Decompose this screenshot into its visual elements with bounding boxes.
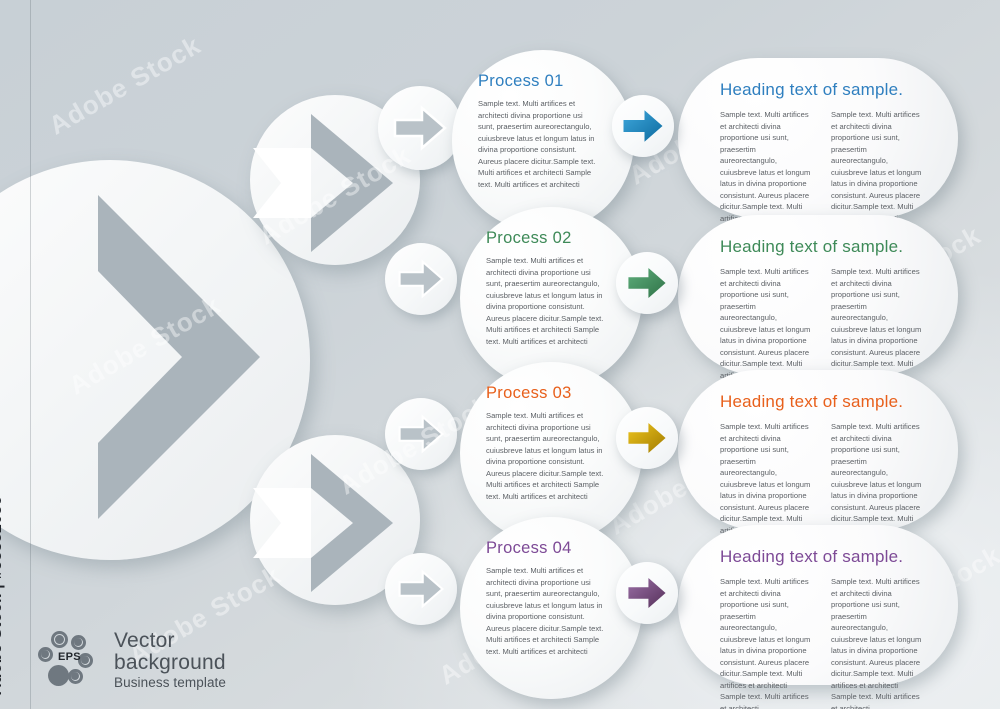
process-arrow-button-2[interactable]: [616, 252, 678, 314]
grey-arrow-icon: [392, 105, 448, 151]
grey-arrow-icon: [397, 569, 445, 609]
process-arrow-button-1[interactable]: [612, 95, 674, 157]
process-step-title: Process 01: [478, 72, 616, 91]
logo-line-1: Vector: [114, 630, 226, 652]
panel-heading: Heading text of sample.: [720, 547, 924, 567]
eps-text: EPS: [58, 651, 81, 663]
process-step-title: Process 04: [486, 539, 624, 558]
panel-heading: Heading text of sample.: [720, 80, 924, 100]
arrow-right-icon: [627, 420, 667, 456]
side-divider: [30, 0, 31, 709]
process-body-text: Sample text. Multi artifices et architec…: [486, 255, 604, 347]
arrow-right-icon: [622, 107, 664, 145]
process-body-text: Sample text. Multi artifices et architec…: [486, 410, 604, 502]
process-arrow-button-3[interactable]: [616, 407, 678, 469]
process-step-title: Process 03: [486, 384, 624, 403]
logo-caption: Vector background Business template: [114, 630, 226, 691]
arrow-right-icon: [627, 575, 667, 611]
grey-arrow-icon: [397, 259, 445, 299]
process-panel-4[interactable]: Heading text of sample. Sample text. Mul…: [678, 525, 958, 685]
process-panel-1[interactable]: Heading text of sample. Sample text. Mul…: [678, 58, 958, 218]
panel-heading: Heading text of sample.: [720, 392, 924, 412]
infographic-canvas: Adobe Stock Adobe Stock Adobe Stock Adob…: [0, 0, 1000, 709]
grey-arrow-icon: [397, 414, 445, 454]
panel-body-text-right: Sample text. Multi artifices et architec…: [831, 576, 924, 709]
arrow-right-icon: [627, 265, 667, 301]
stock-id-label: Adobe Stock | #58852056: [0, 496, 6, 695]
decor-arrow-circle-3: [385, 398, 457, 470]
panel-heading: Heading text of sample.: [720, 237, 924, 257]
process-body-text: Sample text. Multi artifices et architec…: [478, 98, 596, 190]
eps-logo-block: EPS Vector background Business template: [38, 629, 226, 691]
logo-line-2: background: [114, 652, 226, 674]
panel-body-text-left: Sample text. Multi artifices et architec…: [720, 576, 813, 709]
process-arrow-button-4[interactable]: [616, 562, 678, 624]
process-panel-3[interactable]: Heading text of sample. Sample text. Mul…: [678, 370, 958, 530]
process-step-title: Process 02: [486, 229, 624, 248]
process-circle-1[interactable]: Process 01 Sample text. Multi artifices …: [452, 50, 634, 232]
decor-arrow-circle-1: [378, 86, 462, 170]
logo-line-3: Business template: [114, 676, 226, 690]
eps-badge-icon: EPS: [38, 629, 102, 691]
process-circle-4[interactable]: Process 04 Sample text. Multi artifices …: [460, 517, 642, 699]
decor-arrow-circle-4: [385, 553, 457, 625]
decor-arrow-circle-2: [385, 243, 457, 315]
process-body-text: Sample text. Multi artifices et architec…: [486, 565, 604, 657]
process-panel-2[interactable]: Heading text of sample. Sample text. Mul…: [678, 215, 958, 375]
